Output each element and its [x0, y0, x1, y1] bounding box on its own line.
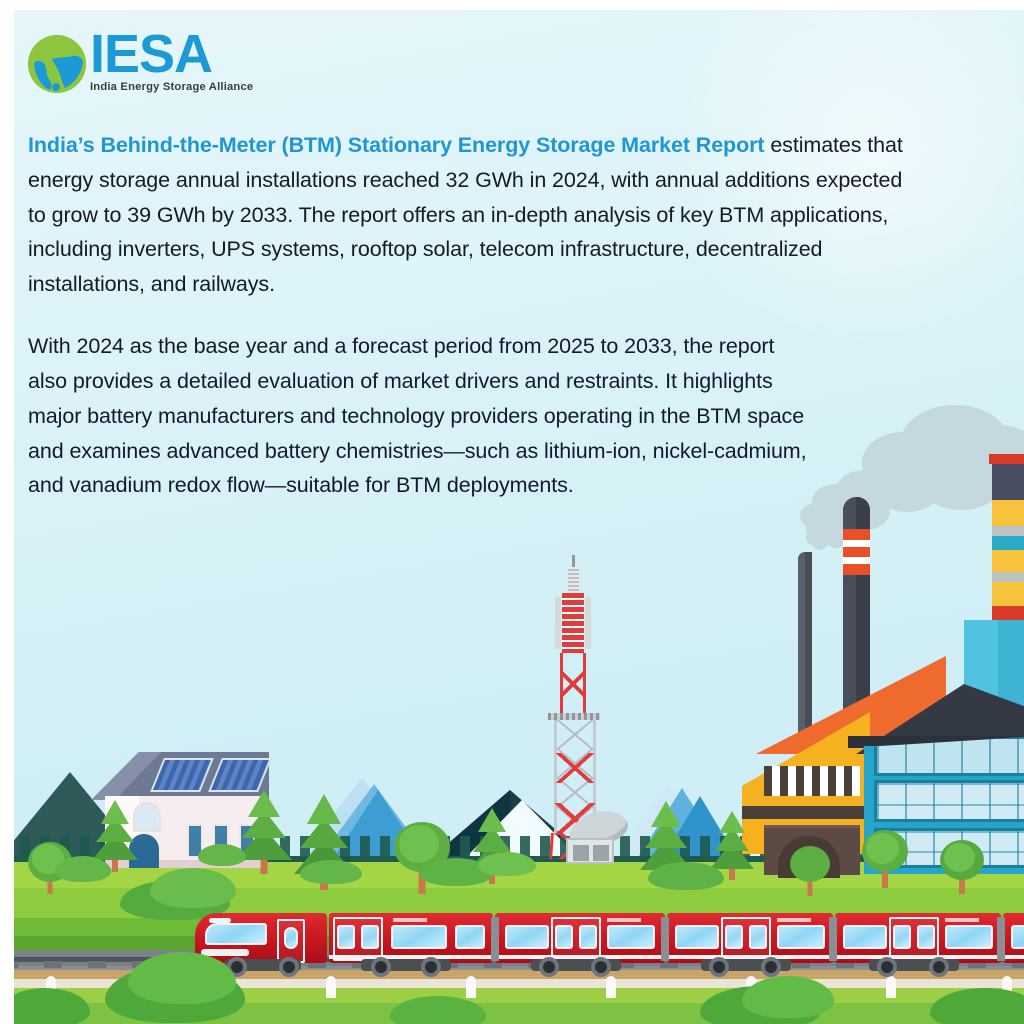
- train-car: [667, 913, 833, 963]
- report-title-highlight: India’s Behind-the-Meter (BTM) Stationar…: [28, 133, 764, 157]
- train-wheel: [279, 957, 299, 977]
- round-tree: [862, 830, 908, 888]
- factory-awning: [764, 766, 860, 796]
- paragraph-2: With 2024 as the base year and a forecas…: [28, 329, 818, 503]
- train-car: [495, 913, 665, 963]
- iesa-logo[interactable]: IESA India Energy Storage Alliance: [28, 30, 253, 93]
- logo-acronym: IESA: [90, 30, 253, 80]
- train-wheel: [371, 957, 391, 977]
- bush: [300, 860, 362, 884]
- round-tree: [940, 840, 984, 894]
- train-wheel: [709, 957, 729, 977]
- bush: [55, 856, 111, 882]
- train-car: [1003, 913, 1024, 963]
- train-locomotive: [195, 913, 327, 963]
- round-tree: [790, 846, 830, 896]
- globe-icon: [28, 35, 86, 93]
- paragraph-1-rest: estimates that energy storage annual ins…: [28, 133, 903, 296]
- bush: [150, 868, 236, 908]
- bush: [478, 852, 536, 876]
- striped-chimney: [992, 454, 1024, 640]
- train-wheel: [761, 957, 781, 977]
- train-car: [329, 913, 493, 963]
- train-wheel: [421, 957, 441, 977]
- pine-tree: [236, 790, 292, 874]
- passenger-train: [195, 905, 1024, 975]
- paragraph-1: India’s Behind-the-Meter (BTM) Stationar…: [28, 128, 918, 302]
- train-car: [835, 913, 1001, 963]
- telecom-tower: [540, 555, 610, 855]
- bush: [198, 844, 246, 866]
- bush: [648, 862, 724, 890]
- report-copy: India’s Behind-the-Meter (BTM) Stationar…: [28, 128, 918, 503]
- poster-canvas: IESA India Energy Storage Alliance India…: [0, 0, 1024, 1024]
- base-station-hut: [566, 838, 614, 864]
- train-wheel: [591, 957, 611, 977]
- train-wheel: [929, 957, 949, 977]
- train-wheel: [539, 957, 559, 977]
- logo-tagline: India Energy Storage Alliance: [90, 81, 253, 93]
- train-wheel: [877, 957, 897, 977]
